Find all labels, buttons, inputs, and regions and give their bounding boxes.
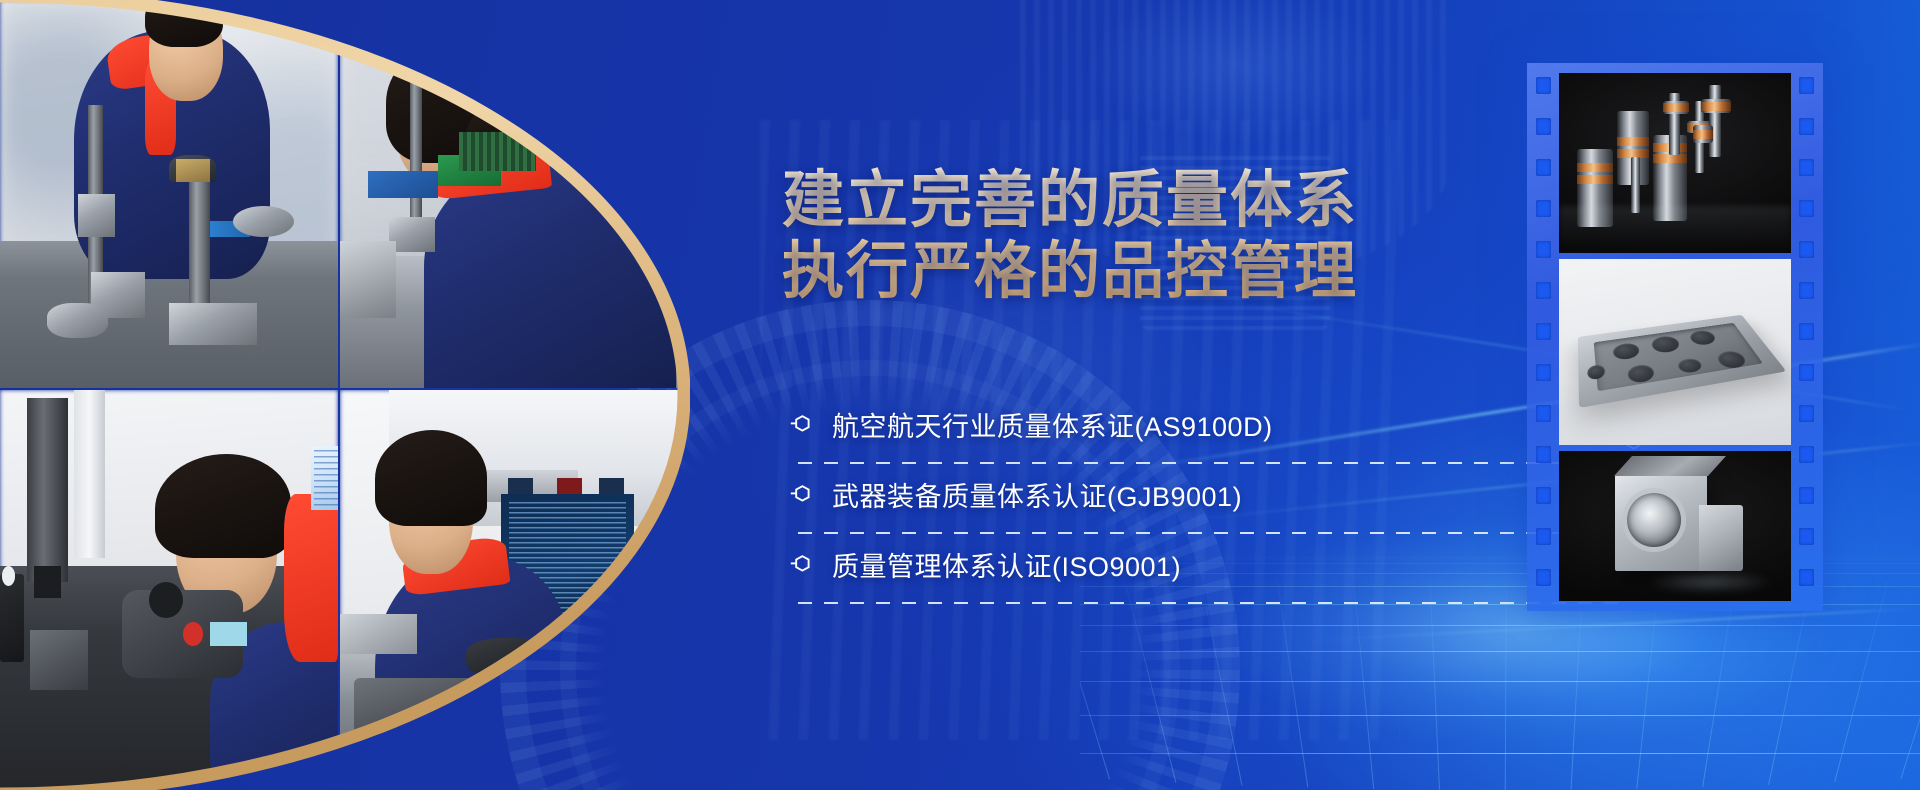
- filmstrip-perforation: [1799, 77, 1814, 94]
- filmstrip-perforation: [1536, 528, 1551, 545]
- filmstrip-perforation: [1536, 405, 1551, 422]
- certification-row[interactable]: 质量管理体系认证(ISO9001): [790, 538, 1450, 608]
- product-photo-aluminium-housing: [1559, 259, 1791, 445]
- filmstrip-perforation: [1799, 487, 1814, 504]
- filmstrip-perforation: [1536, 77, 1551, 94]
- hex-bolt-icon: [790, 554, 816, 574]
- filmstrip-perforation: [1799, 200, 1814, 217]
- filmstrip-perforation: [1799, 282, 1814, 299]
- filmstrip-perforation: [1536, 364, 1551, 381]
- grid-vertical-line: [1900, 548, 1920, 779]
- filmstrip-perforation: [1799, 159, 1814, 176]
- filmstrip-perforation: [1536, 241, 1551, 258]
- filmstrip-perforation: [1799, 569, 1814, 586]
- grid-horizontal-line: [1080, 681, 1920, 682]
- filmstrip-perforation: [1536, 282, 1551, 299]
- headline-line-2: 执行严格的品控管理: [782, 237, 1442, 308]
- filmstrip-perforation: [1799, 241, 1814, 258]
- hex-bolt-icon: [790, 414, 816, 434]
- certification-label: 航空航天行业质量体系证(AS9100D): [832, 405, 1273, 444]
- filmstrip-perforation: [1799, 118, 1814, 135]
- filmstrip-perforation: [1799, 323, 1814, 340]
- grid-horizontal-line: [1080, 625, 1920, 626]
- filmstrip-perforation: [1799, 405, 1814, 422]
- photo-cleanroom-operator: [340, 390, 690, 790]
- filmstrip-perforation: [1799, 364, 1814, 381]
- filmstrip-perforation: [1536, 569, 1551, 586]
- certification-dashed-rule: [798, 602, 1618, 604]
- filmstrip-perforation: [1536, 487, 1551, 504]
- grid-horizontal-line: [1080, 715, 1920, 716]
- filmstrip-perforation: [1536, 323, 1551, 340]
- certification-row[interactable]: 武器装备质量体系认证(GJB9001): [790, 468, 1450, 538]
- product-photo-precision-shafts-bushings: [1559, 73, 1791, 253]
- filmstrip-perforation: [1536, 200, 1551, 217]
- certification-list: 航空航天行业质量体系证(AS9100D)武器装备质量体系认证(GJB9001)质…: [790, 398, 1450, 608]
- photo-collage: [0, 0, 690, 790]
- grid-horizontal-line: [1080, 651, 1920, 652]
- filmstrip-perforation: [1536, 159, 1551, 176]
- certification-label: 武器装备质量体系认证(GJB9001): [832, 475, 1242, 514]
- headline-line-1: 建立完善的质量体系: [782, 166, 1358, 235]
- certification-label: 质量管理体系认证(ISO9001): [832, 545, 1181, 584]
- filmstrip-perforation: [1799, 446, 1814, 463]
- grid-horizontal-line: [1080, 753, 1920, 754]
- headline: 建立完善的质量体系 执行严格的品控管理: [782, 166, 1442, 307]
- filmstrip-perforation: [1536, 118, 1551, 135]
- hex-bolt-icon: [790, 484, 816, 504]
- filmstrip-perforation: [1799, 528, 1814, 545]
- certification-dashed-rule: [798, 532, 1618, 534]
- filmstrip-perforation: [1536, 446, 1551, 463]
- photo-height-gauge-inspection: [0, 0, 338, 388]
- photo-cmm-measurement: [0, 390, 338, 790]
- product-filmstrip-panel: [1527, 63, 1823, 611]
- quality-system-banner: 建立完善的质量体系 执行严格的品控管理 航空航天行业质量体系证(AS9100D)…: [0, 0, 1920, 790]
- grid-vertical-line: [1834, 548, 1897, 782]
- certification-dashed-rule: [798, 462, 1618, 464]
- certification-row[interactable]: 航空航天行业质量体系证(AS9100D): [790, 398, 1450, 468]
- photo-bench-measurement: [340, 0, 690, 388]
- product-photo-bearing-block: [1559, 451, 1791, 601]
